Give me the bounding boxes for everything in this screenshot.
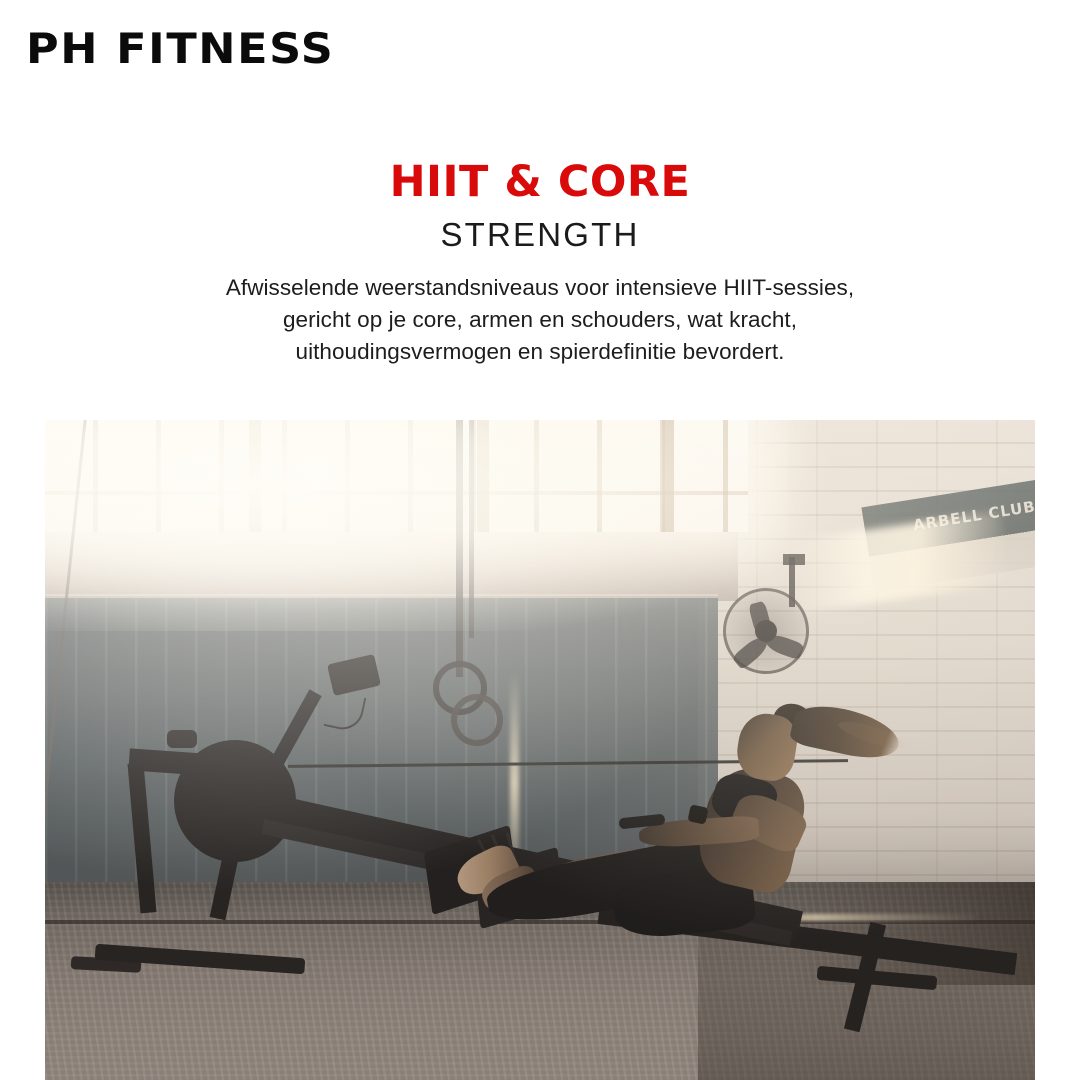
hero-photo: ARBELL CLUB — [45, 420, 1035, 1080]
athlete-figure — [45, 420, 1035, 1080]
headline-block: HIIT & CORE STRENGTH — [0, 160, 1080, 253]
headline-secondary: STRENGTH — [0, 217, 1080, 253]
headline-primary: HIIT & CORE — [0, 160, 1080, 205]
description-paragraph: Afwisselende weerstandsniveaus voor inte… — [190, 272, 890, 368]
poster-canvas: PH FITNESS HIIT & CORE STRENGTH Afwissel… — [0, 0, 1080, 1080]
gym-scene-illustration: ARBELL CLUB — [45, 420, 1035, 1080]
athlete-wristband — [687, 804, 708, 824]
brand-logo: PH FITNESS — [26, 28, 334, 70]
